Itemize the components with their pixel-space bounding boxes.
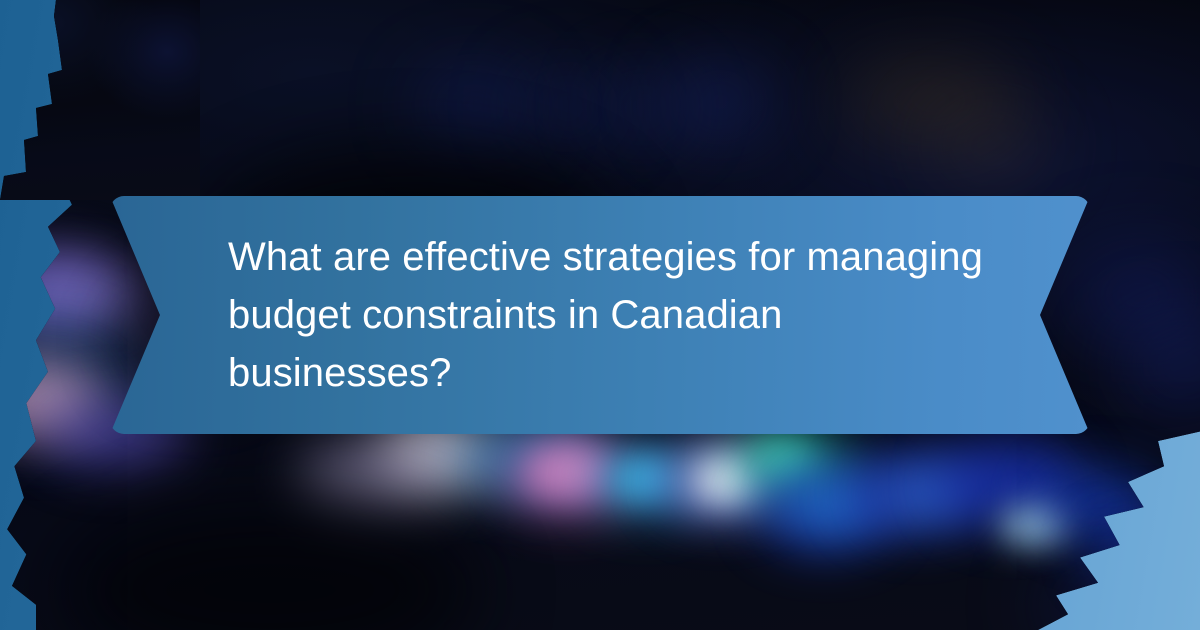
question-text: What are effective strategies for managi… bbox=[228, 228, 988, 402]
promo-image-canvas: What are effective strategies for managi… bbox=[0, 0, 1200, 630]
bokeh-light bbox=[930, 110, 1050, 180]
bokeh-light bbox=[420, 75, 530, 137]
bokeh-light bbox=[670, 72, 770, 132]
question-banner: What are effective strategies for managi… bbox=[110, 196, 1090, 434]
